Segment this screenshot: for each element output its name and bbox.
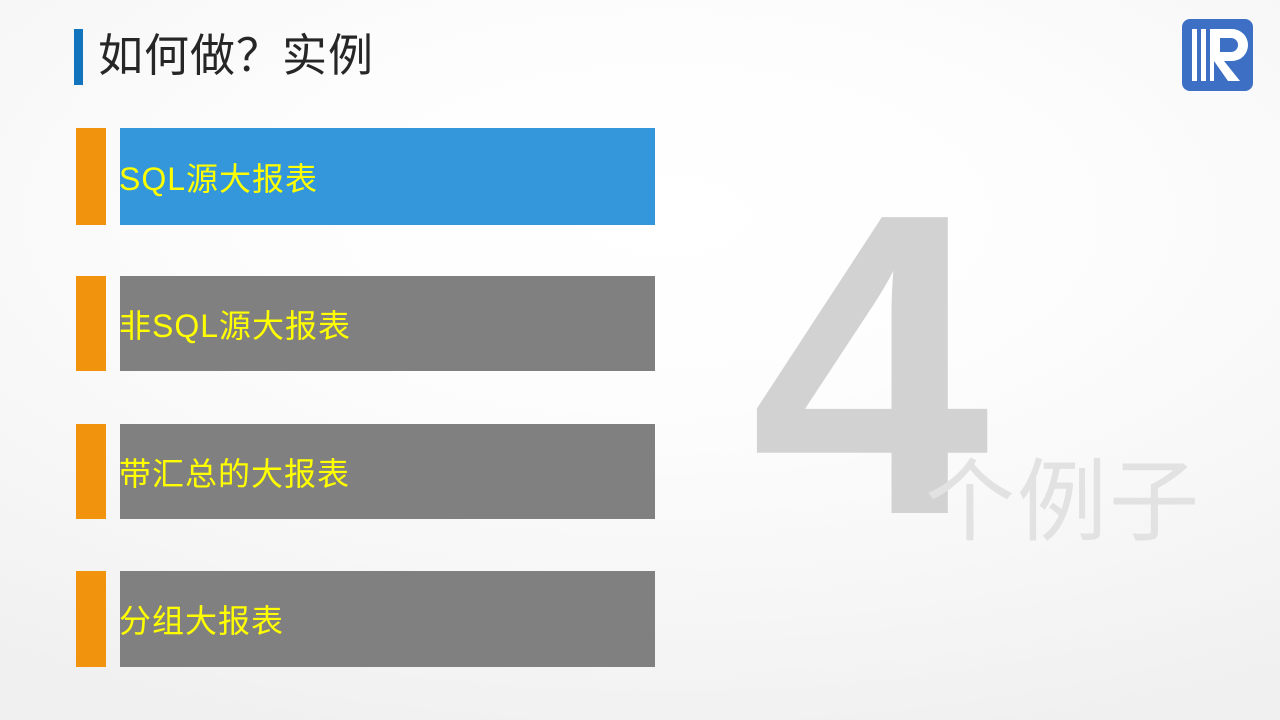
list-item-label: SQL源大报表 xyxy=(119,128,318,225)
item-accent-tab xyxy=(76,424,106,519)
item-accent-tab xyxy=(76,128,106,225)
example-list: SQL源大报表 非SQL源大报表 带汇总的大报表 分组大报表 xyxy=(0,0,1280,720)
item-accent-tab xyxy=(76,276,106,371)
slide-canvas: 4 个例子 如何做？实例 SQL源大报表 非SQL源大报表 带 xyxy=(0,0,1280,720)
list-item-label: 非SQL源大报表 xyxy=(119,276,351,371)
list-item-label: 分组大报表 xyxy=(119,571,284,667)
item-accent-tab xyxy=(76,571,106,667)
list-item-label: 带汇总的大报表 xyxy=(119,424,350,519)
